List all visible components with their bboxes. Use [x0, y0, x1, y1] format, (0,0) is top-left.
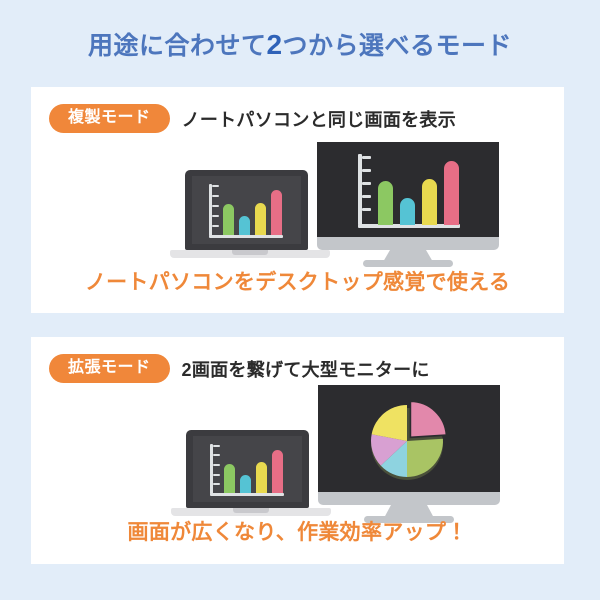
description-duplicate-mode: ノートパソコンと同じ画面を表示	[182, 106, 457, 132]
bar-3	[255, 203, 266, 235]
illustration-extend	[31, 385, 564, 525]
chart-tick	[362, 208, 371, 211]
bar-4	[271, 190, 282, 235]
chart-axis-y	[358, 154, 362, 225]
pie-chart-svg	[362, 395, 454, 487]
chart-axis-y	[209, 184, 212, 236]
monitor-device-duplicate	[317, 142, 499, 267]
laptop-device-duplicate	[170, 170, 330, 267]
monitor-screen-extend	[318, 385, 500, 492]
laptop-trackpad-notch	[233, 508, 269, 513]
chart-tick	[213, 454, 220, 456]
chart-tick	[212, 215, 219, 217]
monitor-screen-duplicate	[317, 142, 499, 237]
bar-chart-laptop-extend	[210, 444, 286, 496]
description-extend-mode: 2画面を繋げて大型モニターに	[182, 356, 430, 382]
bar-1	[378, 181, 393, 225]
bar-4	[272, 450, 283, 493]
page-title-after: つから選べるモード	[283, 32, 513, 60]
chart-axis-x	[209, 235, 283, 238]
bar-chart-monitor-duplicate	[358, 154, 462, 228]
bar-1	[224, 464, 235, 493]
badge-extend-mode: 拡張モード	[49, 354, 170, 383]
chart-tick	[212, 185, 219, 187]
bar-3	[256, 462, 267, 493]
monitor-device-extend	[318, 385, 500, 525]
laptop-trackpad-notch	[232, 250, 268, 255]
page-title-number: 2	[266, 29, 282, 60]
bar-4	[444, 161, 459, 225]
card-duplicate-mode: 複製モード ノートパソコンと同じ画面を表示	[31, 87, 564, 313]
bar-1	[223, 204, 234, 235]
caption-duplicate-mode: ノートパソコンをデスクトップ感覚で使える	[31, 266, 564, 296]
card-header-extend: 拡張モード 2画面を繋げて大型モニターに	[49, 354, 430, 383]
bar-2	[400, 198, 415, 225]
illustration-duplicate	[31, 142, 564, 267]
laptop-device-extend	[171, 430, 331, 525]
page-title: 用途に合わせて2つから選べるモード	[0, 26, 600, 62]
monitor-chin	[318, 492, 500, 505]
chart-tick	[212, 195, 219, 197]
chart-tick	[213, 464, 220, 466]
chart-tick	[212, 205, 219, 207]
chart-tick	[362, 156, 371, 159]
card-extend-mode: 拡張モード 2画面を繋げて大型モニターに	[31, 337, 564, 564]
chart-axis-x	[210, 493, 284, 496]
laptop-screen-extend	[193, 436, 302, 502]
page-title-before: 用途に合わせて	[88, 32, 267, 60]
chart-axis-y	[210, 444, 213, 494]
chart-tick	[362, 195, 371, 198]
chart-tick	[213, 445, 220, 447]
pie-slice-green	[407, 439, 443, 477]
badge-duplicate-mode: 複製モード	[49, 104, 170, 133]
chart-tick	[213, 483, 220, 485]
bar-2	[240, 475, 251, 493]
chart-tick	[212, 225, 219, 227]
infographic-page: 用途に合わせて2つから選べるモード 複製モード ノートパソコンと同じ画面を表示	[0, 0, 600, 600]
laptop-screen-duplicate	[192, 176, 301, 244]
bar-2	[239, 216, 250, 235]
caption-extend-mode: 画面が広くなり、作業効率アップ！	[31, 516, 564, 546]
chart-tick	[213, 474, 220, 476]
bar-chart-laptop-duplicate	[209, 184, 285, 238]
card-header-duplicate: 複製モード ノートパソコンと同じ画面を表示	[49, 104, 456, 133]
pie-slice-pink	[410, 401, 446, 437]
bar-3	[422, 179, 437, 225]
chart-tick	[362, 182, 371, 185]
pie-chart-monitor-extend	[362, 395, 454, 487]
monitor-chin	[317, 237, 499, 250]
chart-tick	[362, 169, 371, 172]
